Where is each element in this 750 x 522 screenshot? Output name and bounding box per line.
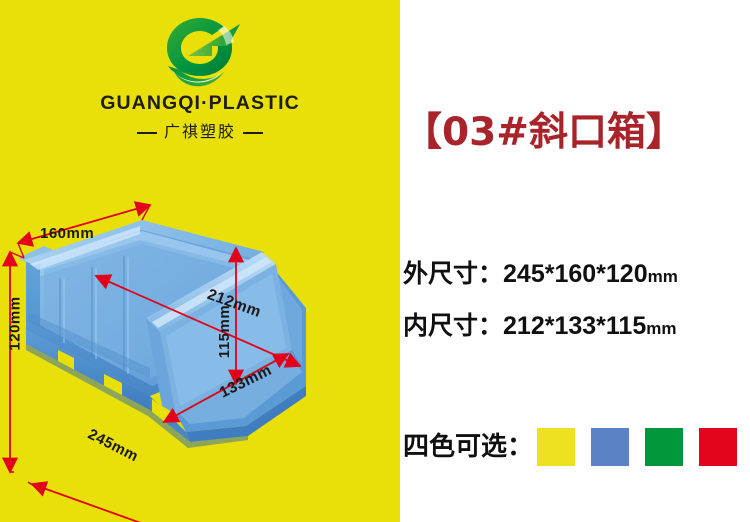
color-options-label: 四色可选： bbox=[403, 428, 533, 466]
brand-logo-block: GUANGQI·PLASTIC 广祺塑胶 bbox=[0, 12, 400, 142]
brand-name-cn: 广祺塑胶 bbox=[0, 118, 400, 142]
logo-dash-left bbox=[137, 132, 157, 134]
logo-dash-right bbox=[243, 132, 263, 134]
dimension-label-width-top: 160mm bbox=[40, 225, 94, 242]
color-options-row: 四色可选： bbox=[403, 428, 737, 466]
product-photo: 160mm 120mm 245mm 212mm 115mm 133mm bbox=[0, 200, 400, 522]
spec-outer-unit: mm bbox=[648, 267, 678, 286]
spec-outer-label: 外尺寸： bbox=[403, 259, 503, 288]
dimension-label-inner-height: 115mm bbox=[216, 305, 233, 358]
product-banner: GUANGQI·PLASTIC 广祺塑胶 bbox=[0, 0, 750, 522]
color-swatch-red[interactable] bbox=[699, 428, 737, 466]
spec-outer-value: 245*160*120 bbox=[503, 260, 648, 288]
product-title: 【03#斜口箱】 bbox=[403, 101, 750, 157]
color-swatch-yellow[interactable] bbox=[537, 428, 575, 466]
spec-inner-unit: mm bbox=[646, 319, 676, 338]
right-info-panel: 【03#斜口箱】 外尺寸：245*160*120mm 内尺寸：212*133*1… bbox=[400, 0, 750, 522]
color-swatch-blue[interactable] bbox=[591, 428, 629, 466]
dimension-label-height-left: 120mm bbox=[7, 296, 24, 350]
brand-name-en: GUANGQI·PLASTIC bbox=[0, 92, 400, 115]
guangqi-g-leaf-logo-icon bbox=[154, 12, 246, 90]
color-swatch-green[interactable] bbox=[645, 428, 683, 466]
color-swatch-list bbox=[537, 428, 737, 466]
spec-inner-value: 212*133*115 bbox=[503, 312, 646, 340]
spec-inner-dimension: 内尺寸：212*133*115mm bbox=[403, 306, 676, 342]
spec-outer-dimension: 外尺寸：245*160*120mm bbox=[403, 254, 678, 290]
brand-name-cn-text: 广祺塑胶 bbox=[164, 122, 236, 141]
spec-inner-label: 内尺寸： bbox=[403, 311, 503, 340]
